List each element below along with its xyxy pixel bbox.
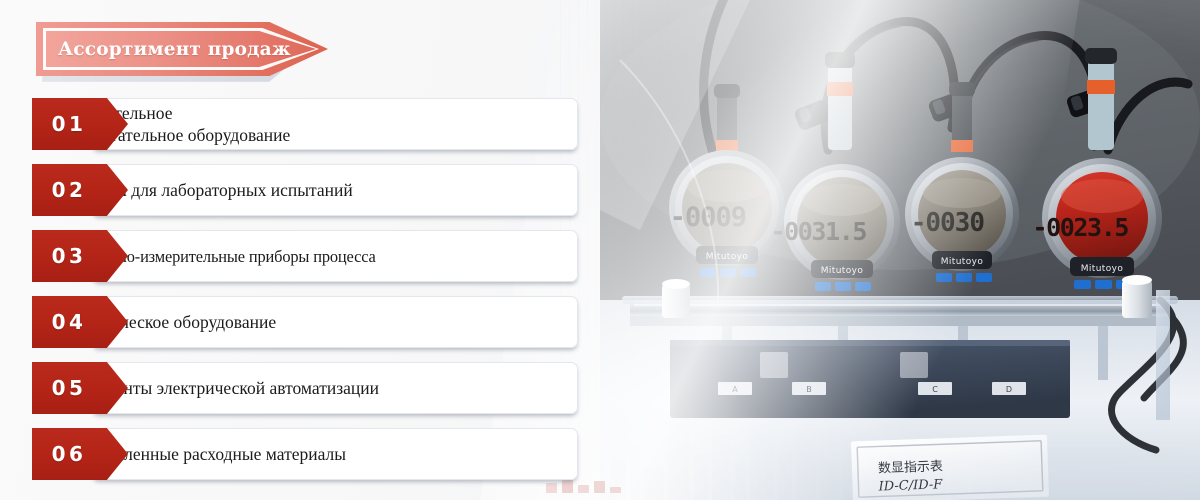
page-title: Ассортимент продаж [58,22,291,76]
list-item[interactable]: 04 Электрическое оборудование [0,296,600,348]
list-item[interactable]: 06 Промышленные расходные материалы [0,428,600,480]
section-header-banner: Ассортимент продаж [36,22,336,78]
slide-canvas: -0009 mm Mitutoyo -0031.5 Mitutoyo [0,0,1200,500]
list-item[interactable]: 01 Измерительное и испытательное оборудо… [0,98,600,150]
list-item[interactable]: 05 Компоненты электрической автоматизаци… [0,362,600,414]
category-number: 06 [32,428,106,480]
category-number: 05 [32,362,106,414]
category-number: 04 [32,296,106,348]
svg-text:-0023.5: -0023.5 [1032,213,1128,242]
product-category-list: 01 Измерительное и испытательное оборудо… [0,98,600,494]
category-number: 01 [32,98,106,150]
svg-text:Mitutoyo: Mitutoyo [1081,264,1124,274]
list-item[interactable]: 03 контрольно-измерительные приборы проц… [0,230,600,282]
category-number: 03 [32,230,106,282]
category-number: 02 [32,164,106,216]
list-item[interactable]: 02 Приборы для лабораторных испытаний [0,164,600,216]
